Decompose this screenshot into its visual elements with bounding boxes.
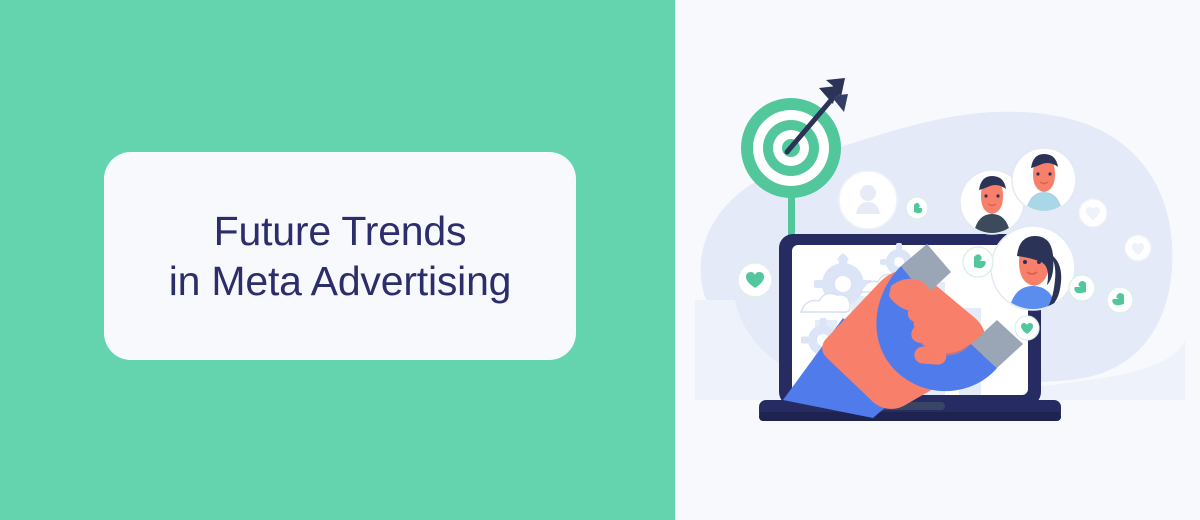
user-placeholder-icon — [839, 171, 897, 229]
thumbs-up-badge-icon — [906, 197, 928, 219]
thumbs-up-badge-icon-3 — [1069, 275, 1095, 301]
heart-badge-icon-bottom — [1015, 316, 1039, 340]
right-illustration-panel — [675, 0, 1200, 520]
heart-badge-icon-left — [738, 263, 772, 297]
thumbs-up-badge-icon-2 — [963, 247, 993, 277]
title-card: Future Trends in Meta Advertising — [104, 152, 576, 360]
thumbs-up-badge-icon-far-right — [1107, 287, 1133, 313]
heart-badge-icon-far-right — [1125, 235, 1151, 261]
banner: Future Trends in Meta Advertising — [0, 0, 1200, 520]
page-title-line-1: Future Trends — [214, 206, 467, 256]
heart-badge-icon-right — [1079, 199, 1107, 227]
left-color-panel: Future Trends in Meta Advertising — [0, 0, 675, 520]
lead-magnet-illustration — [675, 0, 1200, 520]
page-title-line-2: in Meta Advertising — [169, 256, 512, 306]
